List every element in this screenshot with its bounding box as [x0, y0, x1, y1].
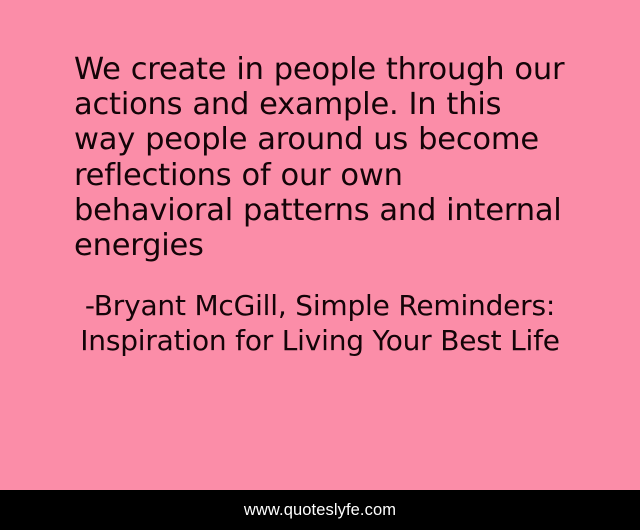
- quote-card-body: We create in people through our actions …: [0, 0, 640, 490]
- footer-bar: www.quoteslyfe.com: [0, 490, 640, 530]
- quote-attribution: -Bryant McGill, Simple Reminders: Inspir…: [0, 288, 640, 358]
- quote-card: We create in people through our actions …: [0, 0, 640, 530]
- website-url-label: www.quoteslyfe.com: [244, 502, 396, 519]
- quote-text: We create in people through our actions …: [74, 52, 570, 263]
